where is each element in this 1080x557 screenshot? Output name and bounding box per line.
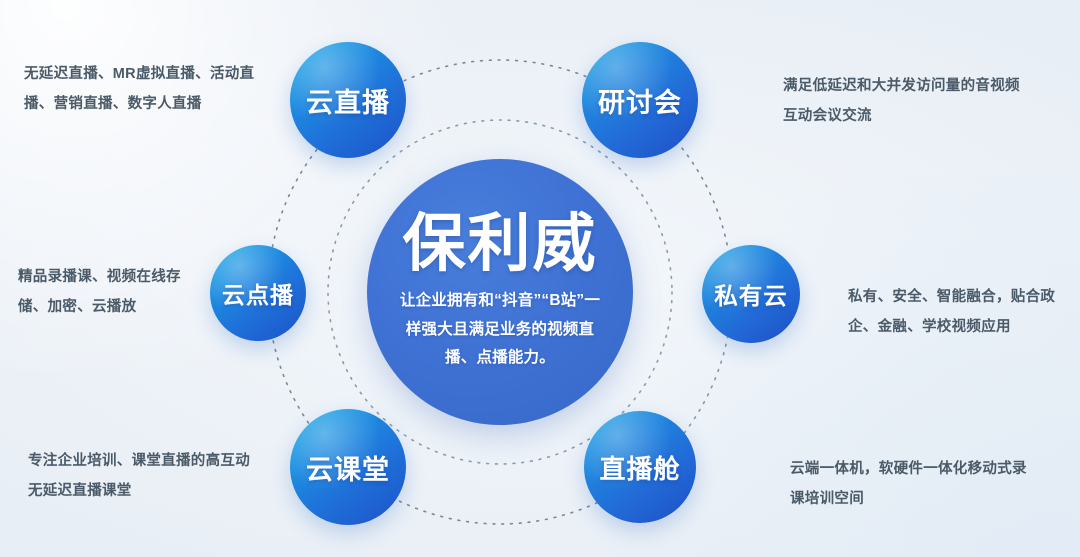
- infographic-canvas: 保利威 让企业拥有和“抖音”“B站”一样强大且满足业务的视频直播、点播能力。 云…: [0, 0, 1080, 557]
- note-seminar: 满足低延迟和大并发访问量的音视频互动会议交流: [783, 72, 1033, 131]
- node-bubble-cloud-classroom[interactable]: 云课堂: [290, 409, 406, 525]
- node-label-seminar: 研讨会: [598, 81, 682, 120]
- node-bubble-seminar[interactable]: 研讨会: [582, 42, 698, 158]
- note-cloud-live: 无延迟直播、MR虚拟直播、活动直播、营销直播、数字人直播: [24, 60, 269, 119]
- note-private-cloud: 私有、安全、智能融合，贴合政企、金融、学校视频应用: [848, 283, 1063, 342]
- node-bubble-private-cloud[interactable]: 私有云: [702, 245, 800, 343]
- node-bubble-cloud-live[interactable]: 云直播: [290, 42, 406, 158]
- node-label-cloud-live: 云直播: [306, 81, 390, 120]
- center-brand-circle: 保利威 让企业拥有和“抖音”“B站”一样强大且满足业务的视频直播、点播能力。: [367, 159, 633, 425]
- brand-tagline: 让企业拥有和“抖音”“B站”一样强大且满足业务的视频直播、点播能力。: [398, 287, 603, 373]
- note-cloud-vod: 精品录播课、视频在线存储、加密、云播放: [18, 263, 198, 322]
- node-label-cloud-vod: 云点播: [222, 276, 294, 310]
- node-bubble-cloud-vod[interactable]: 云点播: [210, 245, 306, 341]
- node-bubble-live-cabin[interactable]: 直播舱: [584, 411, 696, 523]
- brand-name: 保利威: [403, 211, 598, 277]
- node-label-cloud-classroom: 云课堂: [306, 448, 390, 487]
- note-cloud-classroom: 专注企业培训、课堂直播的高互动无延迟直播课堂: [28, 447, 263, 506]
- note-live-cabin: 云端一体机，软硬件一体化移动式录课培训空间: [790, 455, 1030, 514]
- node-label-live-cabin: 直播舱: [599, 449, 680, 486]
- node-label-private-cloud: 私有云: [714, 277, 788, 311]
